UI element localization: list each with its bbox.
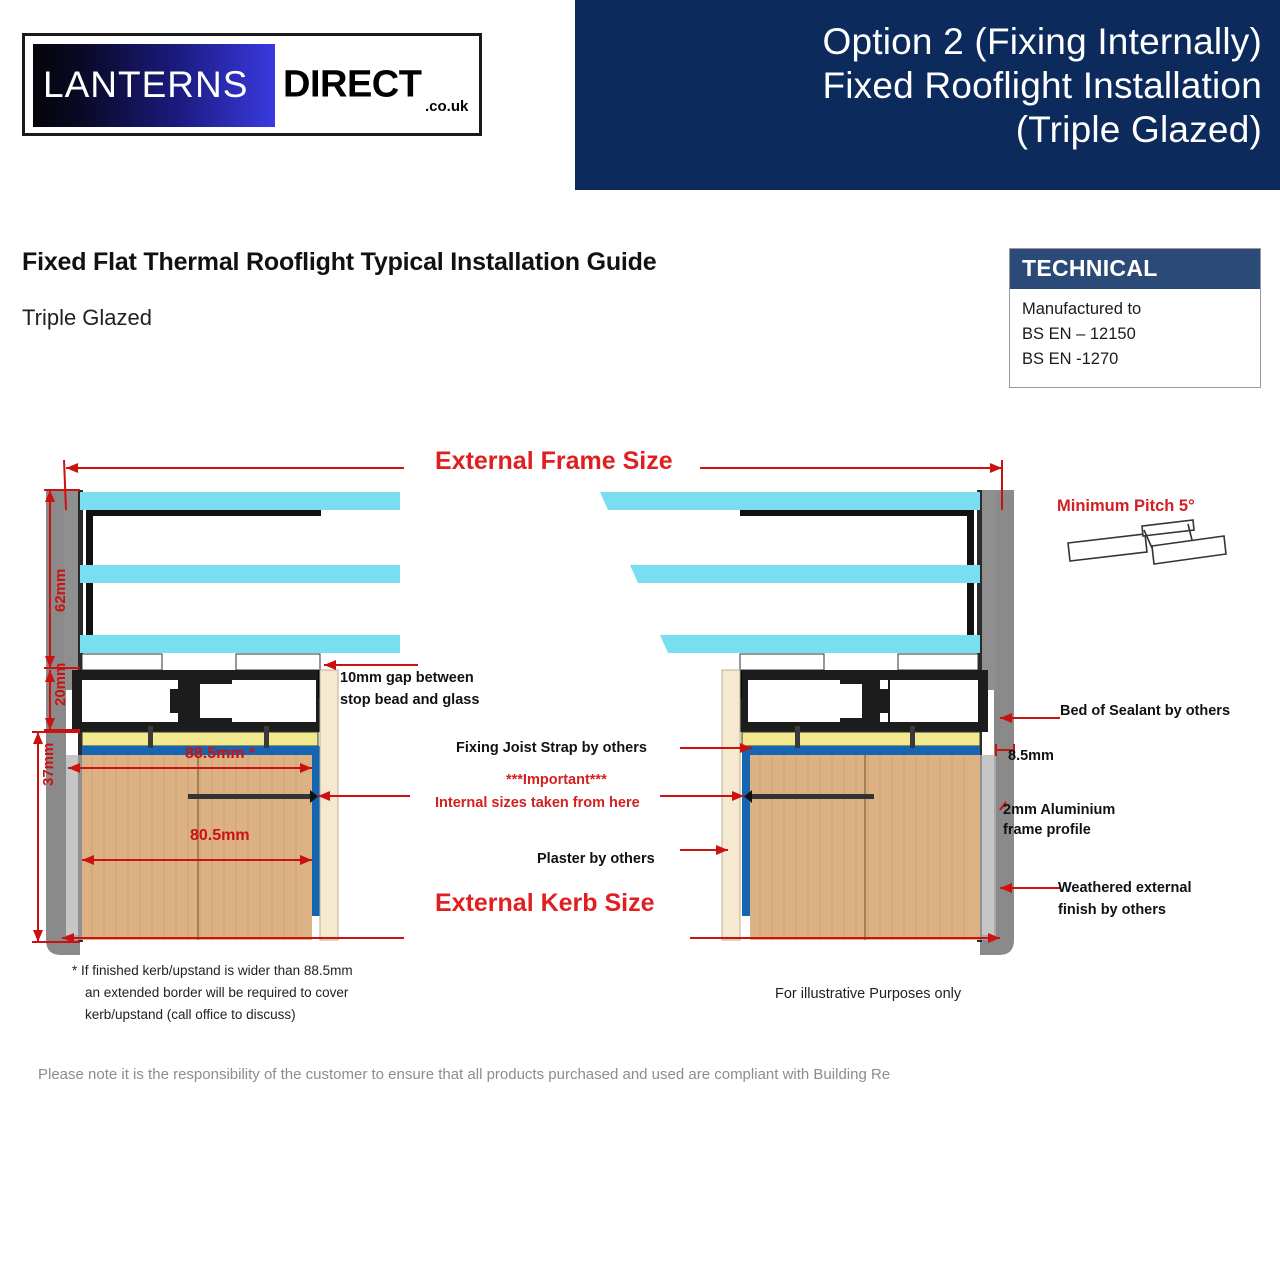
vertical-dim-20mm: 20mm: [52, 663, 69, 706]
header-line-2: Fixed Rooflight Installation: [575, 64, 1280, 108]
external-kerb-size-label: External Kerb Size: [435, 889, 655, 918]
technical-line-1: BS EN – 12150: [1022, 322, 1250, 347]
technical-box: TECHNICAL Manufactured to BS EN – 12150 …: [1009, 248, 1261, 388]
callout-important: ***Important***: [506, 770, 607, 791]
technical-body: Manufactured to BS EN – 12150 BS EN -127…: [1010, 289, 1260, 376]
logo-text-direct: DIRECT: [283, 63, 421, 106]
external-frame-size-label: External Frame Size: [435, 447, 673, 476]
horizontal-dim-885mm: 88.5mm *: [185, 745, 255, 763]
callout-weathered-line2: finish by others: [1058, 900, 1166, 921]
technical-line-2: BS EN -1270: [1022, 347, 1250, 372]
technical-line-0: Manufactured to: [1022, 297, 1250, 322]
callout-bed-of-sealant: Bed of Sealant by others: [1060, 701, 1230, 722]
horizontal-dim-805mm: 80.5mm: [190, 827, 250, 845]
minimum-pitch-label: Minimum Pitch 5°: [1057, 496, 1195, 517]
logo-text-tld: .co.uk: [425, 98, 468, 115]
logo-text-lanterns: LANTERNS: [43, 64, 248, 106]
callout-gap-line1: 10mm gap between: [340, 668, 474, 689]
callout-dim-85mm: 8.5mm: [1008, 746, 1054, 767]
vertical-dim-37mm: 37mm: [40, 743, 57, 786]
footnote-asterisk-line2: an extended border will be required to c…: [85, 982, 348, 1004]
header-banner: Option 2 (Fixing Internally) Fixed Roofl…: [575, 0, 1280, 190]
callout-plaster: Plaster by others: [537, 849, 655, 870]
callout-alu-line2: frame profile: [1003, 820, 1091, 841]
illustrative-purposes-note: For illustrative Purposes only: [775, 986, 961, 1002]
callout-alu-line1: 2mm Aluminium: [1003, 800, 1115, 821]
minimum-pitch-sketch: [1068, 520, 1226, 564]
header-line-1: Option 2 (Fixing Internally): [575, 20, 1280, 64]
page-title: Fixed Flat Thermal Rooflight Typical Ins…: [22, 248, 656, 277]
footnote-asterisk-line1: * If finished kerb/upstand is wider than…: [72, 960, 353, 982]
footnote-asterisk-line3: kerb/upstand (call office to discuss): [85, 1004, 296, 1026]
technical-heading: TECHNICAL: [1010, 249, 1260, 289]
callout-weathered-line1: Weathered external: [1058, 878, 1192, 899]
brand-logo: LANTERNS DIRECT .co.uk: [22, 33, 482, 136]
vertical-dim-62mm: 62mm: [52, 569, 69, 612]
header-line-3: (Triple Glazed): [575, 108, 1280, 152]
page-subtitle: Triple Glazed: [22, 305, 152, 331]
callout-gap-line2: stop bead and glass: [340, 690, 479, 711]
disclaimer-text: Please note it is the responsibility of …: [38, 1066, 890, 1083]
callout-internal-sizes: Internal sizes taken from here: [435, 793, 640, 814]
callout-fixing-joist-strap: Fixing Joist Strap by others: [456, 738, 647, 759]
